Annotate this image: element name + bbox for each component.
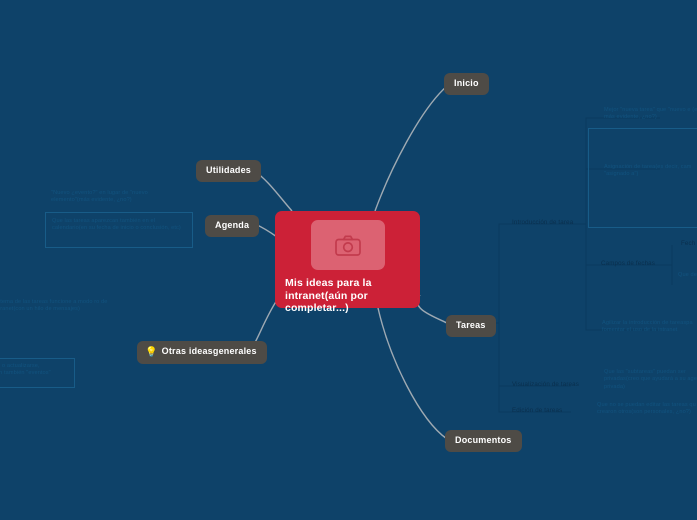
note-text: Agilizar la introducción de tareaspa fom…	[602, 320, 697, 335]
branch-tareas[interactable]: Tareas	[446, 315, 496, 337]
root-thumbnail[interactable]	[311, 220, 385, 270]
branch-label: Tareas	[456, 320, 486, 330]
branch-documentos[interactable]: Documentos	[445, 430, 522, 452]
note-agilizar-introduccion[interactable]: Agilizar la introducción de tareaspa fom…	[602, 320, 697, 335]
branch-label: Inicio	[454, 78, 479, 88]
root-node[interactable]: Mis ideas para la intranet(aún por compl…	[275, 211, 420, 308]
note-tareas-en-calendario[interactable]: Que las tareas aparezcan también en el c…	[45, 212, 193, 248]
note-text: Que desp	[678, 272, 697, 279]
subtopic-introduccion-de-tarea[interactable]: Introducción de tarea	[512, 219, 573, 227]
note-text: "Nuevo ¿evento?" en lugar de "nuevo elem…	[51, 190, 173, 205]
lightbulb-icon: 💡	[145, 347, 158, 358]
note-text: Mejor "nueva tarea" que "nuevo e (es más…	[604, 107, 697, 122]
subtopic-label: Introducción de tarea	[512, 219, 573, 226]
subtopic-fecha[interactable]: Fech	[681, 240, 695, 248]
branch-label: Utilidades	[206, 165, 251, 175]
note-text: Que las tareas aparezcan también en el c…	[52, 218, 186, 233]
branch-inicio[interactable]: Inicio	[444, 73, 489, 95]
note-no-editar-tareas-ajenas[interactable]: Que no se puedan editar las tareas qu cr…	[597, 402, 697, 417]
subtopic-campos-de-fechas[interactable]: Campos de fechas	[601, 260, 655, 268]
root-title: Mis ideas para la intranet(aún por compl…	[285, 277, 410, 315]
subtopic-visualizacion-de-tareas[interactable]: Visualización de tareas	[512, 381, 579, 389]
branch-utilidades[interactable]: Utilidades	[196, 160, 261, 182]
subtopic-label: Edición de tareas	[512, 407, 562, 414]
branch-label: Otras ideasgenerales	[162, 346, 257, 356]
mindmap-canvas[interactable]: Mis ideas para la intranet(aún por compl…	[0, 0, 697, 520]
note-text: el tema de las tareas funcione a modo ro…	[0, 299, 122, 314]
note-text: Que las "subtareas" puedan ser privadas(…	[604, 369, 697, 391]
branch-label: Documentos	[455, 435, 512, 445]
note-nueva-tarea[interactable]: Mejor "nueva tarea" que "nuevo e (es más…	[604, 107, 697, 122]
subtopic-label: Campos de fechas	[601, 260, 655, 267]
note-text: al crearse una tarea, o actualizarse, má…	[0, 363, 68, 385]
subtopic-edicion-de-tareas[interactable]: Edición de tareas	[512, 407, 562, 415]
camera-icon	[335, 235, 361, 256]
note-que-despues[interactable]: Que desp	[678, 272, 697, 279]
note-subtareas-privadas[interactable]: Que las "subtareas" puedan ser privadas(…	[604, 369, 697, 391]
note-group-box-introduccion	[588, 128, 697, 228]
note-hilo-de-mensajes[interactable]: el tema de las tareas funcione a modo ro…	[0, 299, 122, 314]
subtopic-label: Visualización de tareas	[512, 381, 579, 388]
note-nuevo-evento[interactable]: "Nuevo ¿evento?" en lugar de "nuevo elem…	[51, 190, 173, 205]
branch-label: Agenda	[215, 220, 249, 230]
note-text: Que no se puedan editar las tareas qu cr…	[597, 402, 697, 417]
note-eventos-automaticos[interactable]: al crearse una tarea, o actualizarse, má…	[0, 358, 75, 388]
branch-otras-ideas-generales[interactable]: 💡Otras ideasgenerales	[137, 341, 267, 364]
subtopic-label: Fech	[681, 240, 695, 247]
branch-agenda[interactable]: Agenda	[205, 215, 259, 237]
